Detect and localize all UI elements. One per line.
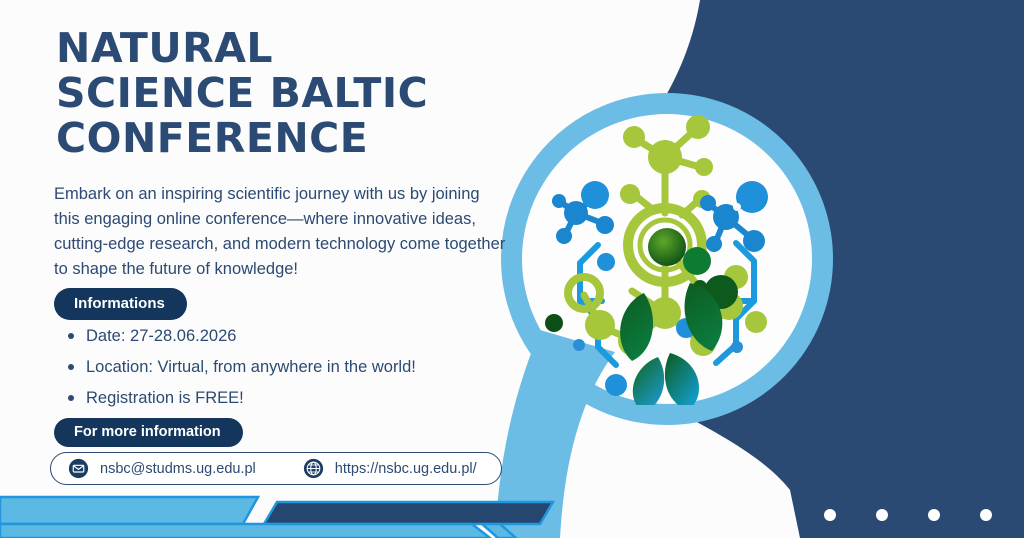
list-item: Registration is FREE! bbox=[60, 387, 520, 409]
list-item-label: Location: Virtual, from anywhere in the … bbox=[86, 358, 416, 376]
more-information-badge: For more information bbox=[54, 418, 243, 447]
informations-badge: Informations bbox=[54, 288, 187, 320]
list-item-label: Registration is FREE! bbox=[86, 389, 244, 407]
bullet-icon bbox=[68, 395, 74, 401]
contact-website[interactable]: https://nsbc.ug.edu.pl/ bbox=[303, 453, 477, 484]
title-line-1: NATURAL bbox=[56, 26, 526, 71]
title-line-2: SCIENCE BALTIC bbox=[56, 71, 526, 116]
globe-icon bbox=[303, 458, 324, 479]
envelope-icon bbox=[68, 458, 89, 479]
info-list: Date: 27-28.06.2026 Location: Virtual, f… bbox=[60, 325, 520, 418]
title-line-3: CONFERENCE bbox=[56, 116, 526, 161]
list-item-label: Date: 27-28.06.2026 bbox=[86, 327, 236, 345]
contact-bar: nsbc@studms.ug.edu.pl https://nsbc.ug.ed… bbox=[50, 452, 502, 485]
description-text: Embark on an inspiring scientific journe… bbox=[54, 182, 506, 282]
contact-website-text: https://nsbc.ug.edu.pl/ bbox=[335, 461, 477, 477]
contact-email-text: nsbc@studms.ug.edu.pl bbox=[100, 461, 256, 477]
bullet-icon bbox=[68, 333, 74, 339]
bullet-icon bbox=[68, 364, 74, 370]
list-item: Date: 27-28.06.2026 bbox=[60, 325, 520, 347]
list-item: Location: Virtual, from anywhere in the … bbox=[60, 356, 520, 378]
page-title: NATURAL SCIENCE BALTIC CONFERENCE bbox=[56, 26, 526, 161]
conference-poster: NATURAL SCIENCE BALTIC CONFERENCE Embark… bbox=[0, 0, 1024, 538]
contact-email[interactable]: nsbc@studms.ug.edu.pl bbox=[68, 453, 256, 484]
poster-content: NATURAL SCIENCE BALTIC CONFERENCE Embark… bbox=[0, 0, 1024, 538]
